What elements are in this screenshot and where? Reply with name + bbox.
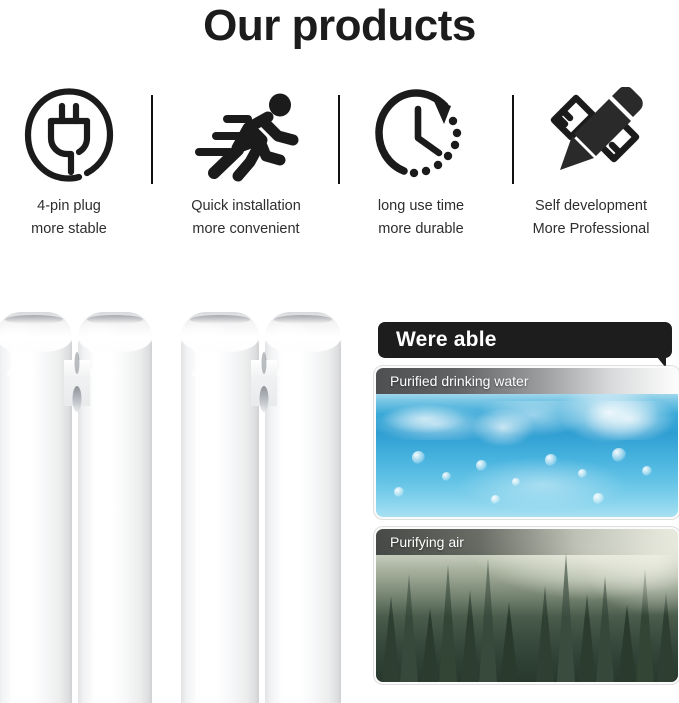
water-bubble — [545, 454, 557, 466]
forest-tree — [596, 576, 614, 682]
tube-highlight — [7, 346, 33, 376]
water-bubble — [642, 466, 652, 476]
feature-item-4-pin-plug: 4-pin plug more stable — [0, 82, 154, 247]
forest-tree — [618, 604, 636, 682]
feature-caption: Quick installation more convenient — [161, 195, 331, 241]
water-wave — [376, 401, 678, 440]
water-bubble — [491, 495, 500, 504]
card-label-text: Purifying air — [376, 529, 464, 555]
lamp-tube — [0, 312, 72, 703]
feature-caption: long use time more durable — [336, 195, 506, 241]
forest-tree — [578, 594, 596, 682]
card-label-text: Purified drinking water — [376, 368, 529, 394]
water-bubble — [412, 451, 425, 464]
feature-item-long-use-time: long use time more durable — [336, 82, 506, 247]
water-bubble — [578, 469, 587, 478]
tube-bridge — [251, 360, 277, 406]
banner-label: Were able — [396, 322, 497, 358]
forest-tree — [421, 608, 439, 682]
tube-highlight — [88, 346, 114, 376]
water-bubble — [512, 478, 520, 486]
showcase-card-purified-water: Purified drinking water — [374, 366, 679, 519]
uv-lamp-right — [181, 300, 341, 703]
feature-caption-line1: Self development — [535, 198, 647, 214]
power-plug-icon — [0, 82, 154, 187]
pencil-ruler-icon — [506, 82, 676, 187]
forest-tree — [500, 602, 518, 682]
forest-tree — [400, 574, 418, 682]
product-infographic: Our products 4-pin plug more stabl — [0, 0, 679, 703]
forest-tree — [479, 558, 497, 682]
tube-bridge — [64, 360, 90, 406]
clock-arrow-icon — [336, 82, 506, 187]
were-able-banner: Were able — [378, 322, 672, 358]
forest-tree — [657, 592, 675, 682]
feature-item-quick-installation: Quick installation more convenient — [161, 82, 331, 247]
running-person-icon — [161, 82, 331, 187]
uv-lamp-tubes-photo — [0, 300, 360, 703]
feature-caption-line1: 4-pin plug — [37, 198, 101, 214]
forest-tree — [557, 552, 575, 682]
feature-caption-line2: more durable — [336, 218, 506, 241]
water-bubble — [593, 493, 604, 504]
feature-caption-line1: Quick installation — [191, 198, 301, 214]
feature-row: 4-pin plug more stable Quick insta — [0, 82, 679, 247]
tube-highlight — [192, 346, 218, 376]
feature-caption: Self development More Professional — [506, 195, 676, 241]
feature-caption-line1: long use time — [378, 198, 464, 214]
forest-tree — [439, 564, 457, 682]
page-title: Our products — [0, 0, 679, 53]
feature-caption: 4-pin plug more stable — [0, 195, 154, 241]
card-label-bar: Purified drinking water — [376, 368, 678, 394]
forest-tree — [461, 590, 479, 682]
water-bubble — [394, 487, 404, 497]
forest-tree — [382, 596, 400, 682]
tube-highlight — [276, 346, 302, 376]
feature-item-self-development: Self development More Professional — [506, 82, 676, 247]
forest-tree — [536, 586, 554, 682]
uv-lamp-left — [0, 300, 148, 703]
feature-caption-line2: More Professional — [506, 218, 676, 241]
water-bubble — [612, 448, 626, 462]
feature-caption-line2: more convenient — [161, 218, 331, 241]
feature-caption-line2: more stable — [0, 218, 154, 241]
lamp-tube — [181, 312, 259, 703]
showcase-card-purifying-air: Purifying air — [374, 527, 679, 684]
card-label-bar: Purifying air — [376, 529, 678, 555]
water-bubble — [476, 460, 487, 471]
forest-tree — [636, 568, 654, 682]
water-bubble — [442, 472, 451, 481]
